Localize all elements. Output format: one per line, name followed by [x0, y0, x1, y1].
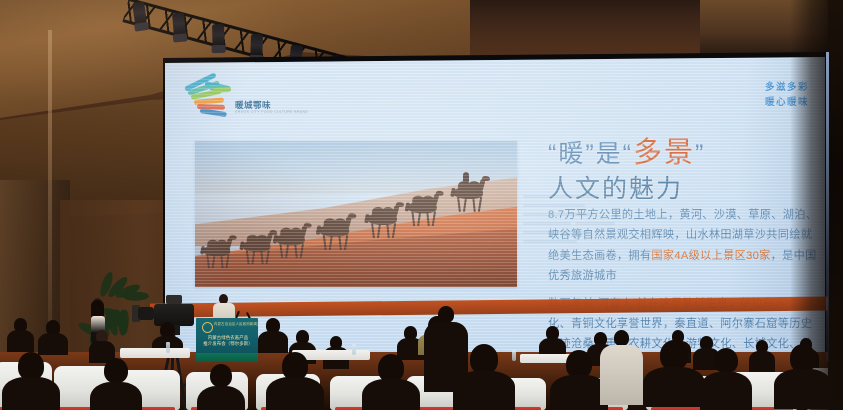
audience-head-front: [104, 358, 128, 383]
audience-head-front: [210, 364, 232, 387]
audience-head-front: [282, 352, 308, 380]
audience-shoulders-front: [197, 386, 245, 410]
slide-photo-camel-caravan: [195, 141, 517, 287]
title-quote-close: ”: [695, 140, 705, 168]
audience-head-front: [660, 340, 688, 370]
audience-shoulders-front: [643, 367, 705, 407]
white-shirt-guest-torso: [600, 345, 643, 405]
audience-shoulders-front: [774, 369, 831, 409]
photo-shadow-overlay: [195, 141, 517, 287]
audience-shoulders-front: [266, 377, 323, 410]
audience-shoulders-front: [362, 379, 419, 410]
title-middle: ”是“: [585, 140, 633, 168]
camera-lens: [138, 307, 154, 320]
standing-guest-head: [438, 306, 454, 323]
audience-shoulders-front: [550, 375, 607, 410]
title-word-highlight: 多景: [633, 137, 695, 169]
body-paragraph-1: 8.7万平方公里的土地上，黄河、沙漠、草原、湖泊、峡谷等自然景观交相辉映，山水林…: [548, 205, 818, 287]
title-quote-open: “: [548, 140, 558, 168]
stage-light-4: [251, 34, 264, 58]
stage-light-2: [172, 12, 186, 37]
logo-swoosh-4: [194, 97, 224, 104]
audience-shoulders-front: [2, 377, 59, 410]
right-edge-dark: [828, 0, 843, 410]
standing-guest-torso: [424, 322, 468, 392]
slide-brand-logo: 暖城鄂味 ERDOS CITY FOOD CULTURE BRAND: [183, 79, 279, 121]
water-bottle: [166, 342, 170, 353]
camera-viewfinder: [166, 295, 182, 304]
audience-shoulders: [258, 331, 287, 353]
body-p1-highlight: 国家4A级以上景区30家: [651, 250, 770, 262]
audience-shoulders: [7, 330, 34, 352]
logo-subline: ERDOS CITY FOOD CULTURE BRAND: [235, 110, 308, 114]
stage-light-3: [212, 23, 225, 47]
camera-body: [154, 304, 194, 326]
lectern-header-text: 内蒙古自治区人民政府新闻办公室: [214, 322, 258, 327]
audience-head-front: [790, 344, 816, 372]
audience-head-front: [714, 348, 738, 373]
white-shirt-guest-head: [614, 330, 629, 346]
audience-table: [120, 348, 190, 358]
audience-head-front: [470, 344, 498, 374]
title-word-warm: 暖: [558, 140, 585, 168]
audience-shoulders: [749, 351, 774, 373]
slide-title: “暖”是“多景”: [548, 135, 810, 173]
audience-head-front: [566, 350, 592, 378]
water-bottle: [352, 344, 356, 355]
audience-head-front: [18, 352, 44, 380]
conference-hall-photo: 暖城鄂味 ERDOS CITY FOOD CULTURE BRAND 多滋多彩 …: [0, 0, 843, 410]
logo-arc-3: [213, 87, 231, 93]
audience-shoulders: [38, 333, 67, 355]
audience-shoulders-front: [700, 372, 753, 410]
screen-right-edge-glow: [826, 52, 829, 362]
wall-light-strip: [48, 30, 52, 370]
water-bottle: [512, 350, 516, 361]
audience-head-front: [378, 354, 404, 382]
audience-shoulders-front: [90, 382, 143, 410]
slide-subtitle: 人文的魅力: [548, 169, 683, 205]
